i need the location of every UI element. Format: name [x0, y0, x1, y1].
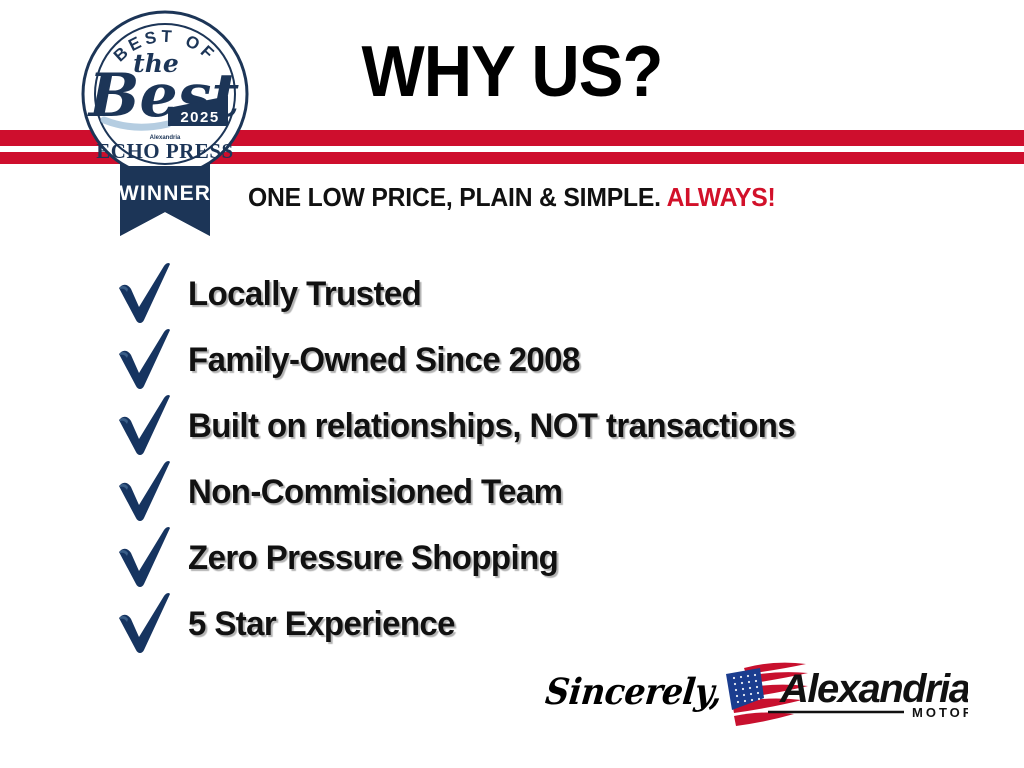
- list-item: Built on relationships, NOT transactions: [108, 394, 1008, 460]
- tagline-accent: ALWAYS!: [667, 182, 776, 212]
- tagline-main: ONE LOW PRICE, PLAIN & SIMPLE.: [248, 182, 661, 212]
- signoff-block: Sincerely,: [548, 662, 968, 732]
- tagline: ONE LOW PRICE, PLAIN & SIMPLE. ALWAYS!: [248, 183, 776, 211]
- benefit-label: Family-Owned Since 2008: [188, 340, 580, 380]
- sincerely-text: Sincerely,: [543, 670, 724, 714]
- list-item: Zero Pressure Shopping: [108, 526, 1008, 592]
- brand-sub: MOTORS: [912, 705, 968, 720]
- check-icon: [114, 262, 176, 326]
- badge-year: 2025: [180, 109, 219, 126]
- check-icon: [114, 328, 176, 392]
- benefit-label: Locally Trusted: [188, 274, 421, 314]
- badge-script-small: the: [133, 49, 179, 78]
- check-icon: [114, 394, 176, 458]
- list-item: Family-Owned Since 2008: [108, 328, 1008, 394]
- benefits-list: Locally Trusted Family-Owned Since 2008 …: [108, 262, 1008, 658]
- benefit-label: 5 Star Experience: [188, 604, 455, 644]
- dealer-logo: Alexandria MOTORS: [708, 656, 968, 732]
- award-badge: BEST OF Best the 2025 Alexandria ECHO PR…: [60, 8, 270, 240]
- check-icon: [114, 526, 176, 590]
- check-icon: [114, 460, 176, 524]
- list-item: Non-Commisioned Team: [108, 460, 1008, 526]
- badge-ribbon-label: WINNER: [119, 182, 211, 205]
- check-icon: [114, 592, 176, 656]
- list-item: Locally Trusted: [108, 262, 1008, 328]
- benefit-label: Non-Commisioned Team: [188, 472, 562, 512]
- benefit-label: Built on relationships, NOT transactions: [188, 406, 795, 446]
- benefit-label: Zero Pressure Shopping: [188, 538, 558, 578]
- list-item: 5 Star Experience: [108, 592, 1008, 658]
- badge-publisher: ECHO PRESS: [96, 139, 233, 163]
